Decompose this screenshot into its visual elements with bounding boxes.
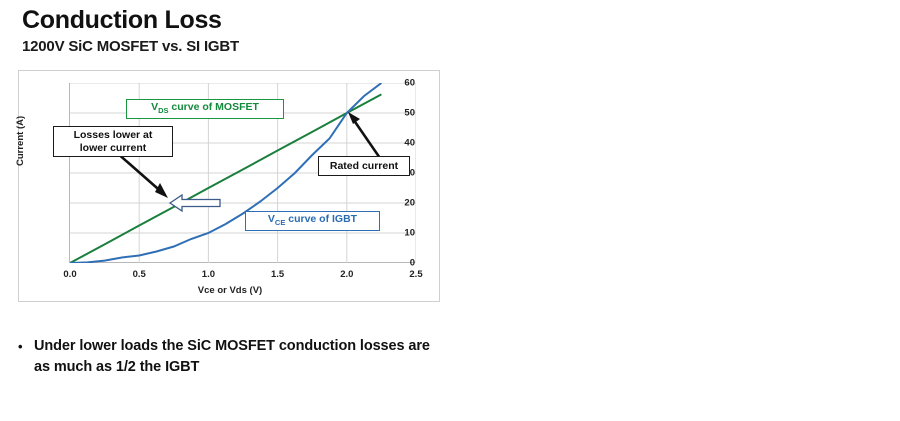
bullet-marker-icon: •	[18, 336, 34, 357]
left-chart-ytick-20: 20	[369, 198, 415, 209]
left-chart-y-axis-label: Current (A)	[15, 116, 26, 166]
left-chart-hollow-arrow	[170, 195, 220, 211]
left-chart-ytick-40: 40	[369, 138, 415, 149]
callout-mosfet-subscript: DS	[158, 106, 168, 115]
left-chart-xtick-2: 1.0	[188, 269, 228, 280]
callout-losses-line1: Losses lower at	[74, 129, 153, 142]
list-item: • Under lower loads the SiC MOSFET condu…	[18, 336, 438, 378]
left-chart-xtick-5: 2.5	[396, 269, 436, 280]
bullet-text: Under lower loads the SiC MOSFET conduct…	[34, 336, 438, 378]
left-bullet-list: • Under lower loads the SiC MOSFET condu…	[18, 336, 438, 382]
left-chart-ytick-0: 0	[369, 258, 415, 269]
callout-losses-line2: lower current	[80, 142, 147, 155]
callout-mosfet-curve: VDS curve of MOSFET	[126, 99, 284, 119]
left-chart-xtick-0: 0.0	[50, 269, 90, 280]
left-chart-xtick-3: 1.5	[258, 269, 298, 280]
callout-mosfet-suffix: curve of MOSFET	[169, 101, 259, 113]
left-chart-arrow-rated	[348, 112, 382, 161]
left-chart-plot-area: 0 10 20 30 40 50 60 0.0 0.5 1.0 1.5 2.0 …	[69, 83, 415, 263]
left-page-subtitle: 1200V SiC MOSFET vs. SI IGBT	[22, 38, 239, 55]
conduction-loss-chart: Current (A)	[18, 70, 440, 302]
left-chart-x-axis-label: Vce or Vds (V)	[19, 285, 441, 296]
left-chart-ytick-60: 60	[369, 78, 415, 89]
callout-losses-lower: Losses lower at lower current	[53, 126, 173, 157]
left-chart-series-mosfet	[70, 94, 381, 263]
conduction-loss-panel: Conduction Loss 1200V SiC MOSFET vs. SI …	[0, 0, 450, 421]
left-chart-xtick-4: 2.0	[327, 269, 367, 280]
left-chart-xtick-1: 0.5	[119, 269, 159, 280]
callout-rated-current: Rated current	[318, 156, 410, 176]
callout-igbt-prefix: V	[268, 213, 275, 225]
left-page-title: Conduction Loss	[22, 6, 222, 35]
callout-igbt-subscript: CE	[275, 218, 285, 227]
callout-igbt-curve: VCE curve of IGBT	[245, 211, 380, 231]
left-chart-ytick-50: 50	[369, 108, 415, 119]
callout-igbt-suffix: curve of IGBT	[285, 213, 357, 225]
switching-loss-panel: Switching Loss 1200V SiC MOSFET vs. SI I…	[450, 0, 900, 421]
